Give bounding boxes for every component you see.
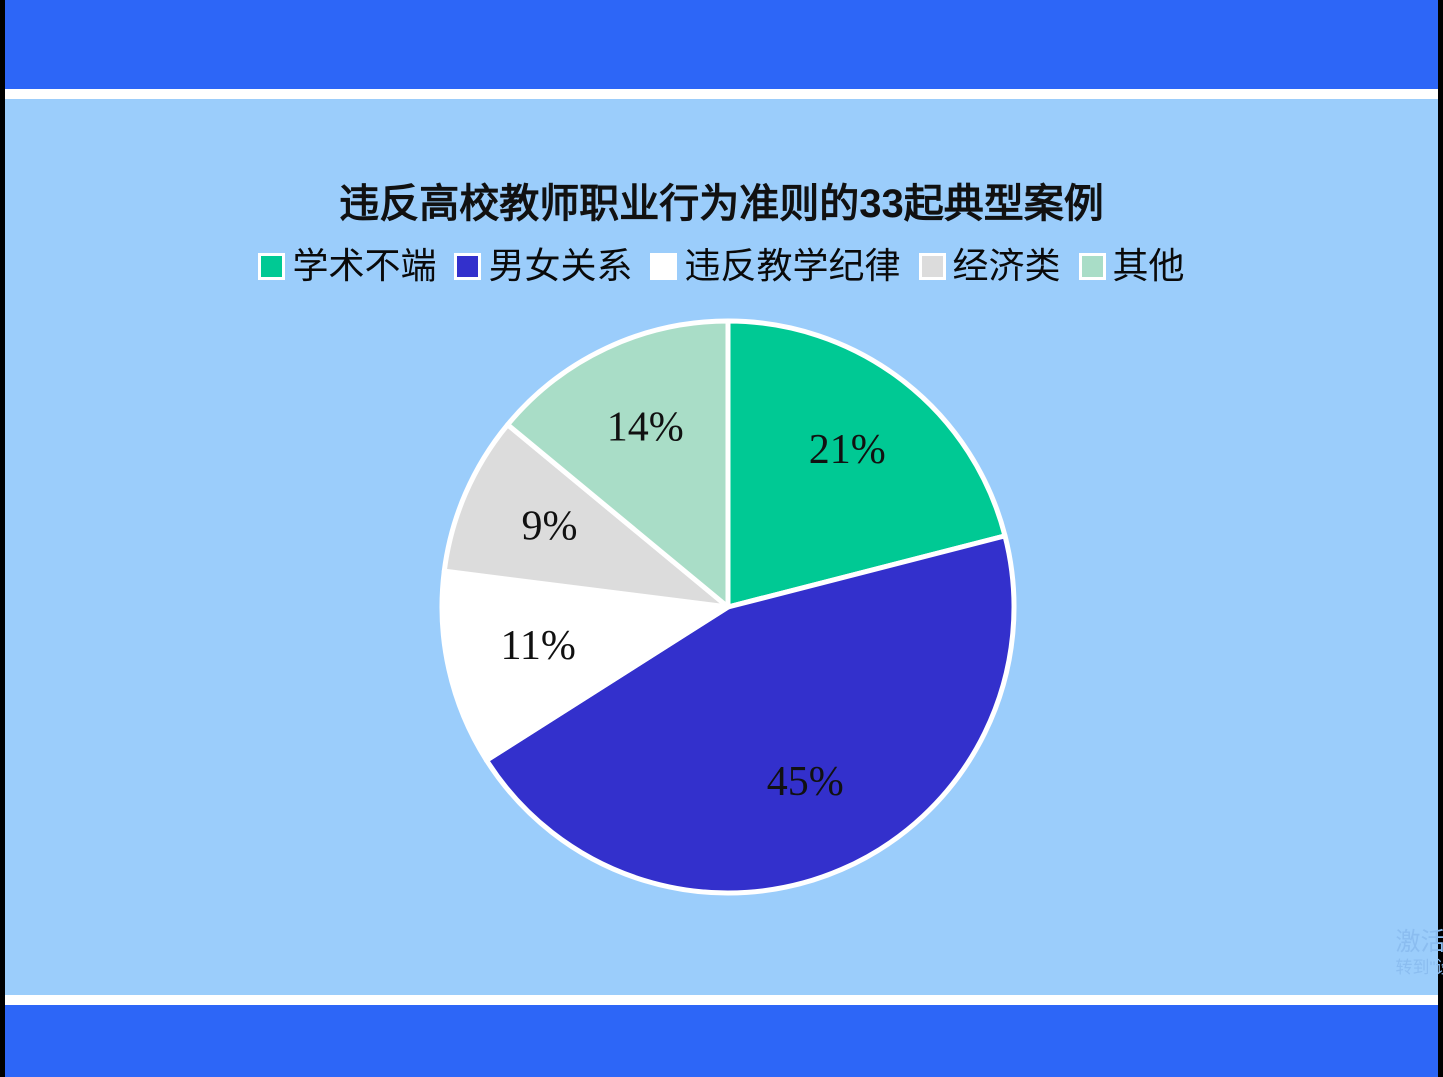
legend-item-label: 学术不端 <box>292 247 436 285</box>
legend-item[interactable]: 学术不端 <box>258 247 436 285</box>
pie-slice-value-label: 45% <box>767 759 844 805</box>
legend-swatch-icon <box>258 253 285 280</box>
legend-item[interactable]: 男女关系 <box>454 247 632 285</box>
pie-slice[interactable] <box>487 536 1014 893</box>
pie-slice[interactable] <box>508 321 728 607</box>
pie-slice[interactable] <box>728 321 1005 607</box>
windows-activation-watermark: 激活 W 转到"设 <box>1395 927 1443 979</box>
slide-right-edge <box>1438 0 1443 1077</box>
watermark-line-2: 转到"设 <box>1395 957 1443 979</box>
chart-title: 违反高校教师职业行为准则的33起典型案例 <box>5 171 1438 229</box>
legend-swatch-icon <box>1079 253 1106 280</box>
watermark-line-1: 激活 W <box>1395 927 1443 957</box>
presentation-slide: 违反高校教师职业行为准则的33起典型案例 学术不端男女关系违反教学纪律经济类其他… <box>0 0 1443 1077</box>
legend-swatch-icon <box>919 253 946 280</box>
chart-legend: 学术不端男女关系违反教学纪律经济类其他 <box>5 247 1438 285</box>
legend-item-label: 其他 <box>1113 247 1185 285</box>
legend-swatch-icon <box>454 253 481 280</box>
pie-slice-value-label: 14% <box>607 405 684 451</box>
top-divider-strip <box>5 89 1438 99</box>
pie-slice-value-label: 9% <box>522 503 578 549</box>
pie-slice[interactable] <box>444 425 728 607</box>
pie-chart-area: 21%45%11%9%14% <box>5 99 1438 995</box>
legend-swatch-icon <box>650 253 677 280</box>
bottom-divider-strip <box>5 995 1438 1005</box>
pie-slice-value-label: 21% <box>809 427 886 473</box>
chart-panel: 违反高校教师职业行为准则的33起典型案例 学术不端男女关系违反教学纪律经济类其他… <box>5 99 1438 995</box>
legend-item-label: 违反教学纪律 <box>684 247 900 285</box>
legend-item-label: 男女关系 <box>488 247 632 285</box>
legend-item[interactable]: 其他 <box>1079 247 1185 285</box>
legend-item[interactable]: 经济类 <box>919 247 1061 285</box>
pie-chart-svg: 21%45%11%9%14% <box>5 99 1438 995</box>
legend-item-label: 经济类 <box>953 247 1061 285</box>
pie-slice[interactable] <box>442 571 728 760</box>
legend-item[interactable]: 违反教学纪律 <box>650 247 900 285</box>
pie-slice-value-label: 11% <box>500 623 575 669</box>
